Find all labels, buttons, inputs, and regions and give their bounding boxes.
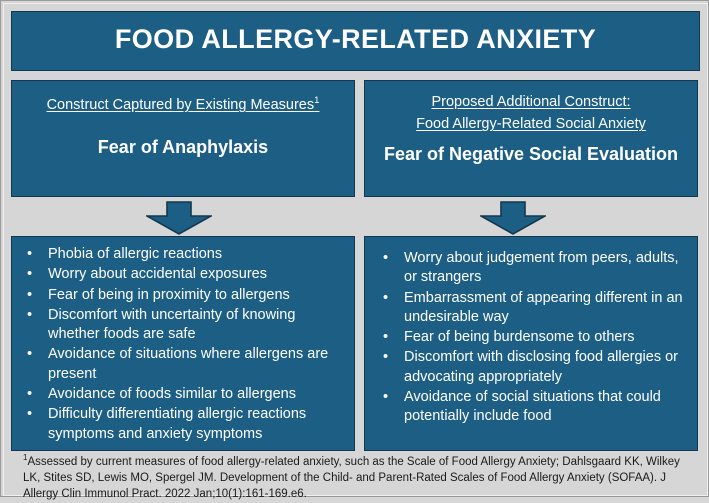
- left-bullet-list: •Phobia of allergic reactions •Worry abo…: [18, 245, 348, 444]
- bullet-icon: •: [383, 249, 388, 268]
- list-item-text: Phobia of allergic reactions: [48, 246, 222, 262]
- list-item-text: Fear of being in proximity to allergens: [48, 287, 290, 303]
- diagram-poster: FOOD ALLERGY-RELATED ANXIETY Construct C…: [0, 0, 709, 497]
- bullet-icon: •: [27, 286, 32, 305]
- list-item: •Discomfort with disclosing food allergi…: [373, 348, 689, 387]
- list-item: •Discomfort with uncertainty of knowing …: [18, 306, 348, 345]
- list-item: •Embarrassment of appearing different in…: [373, 289, 689, 328]
- bullet-icon: •: [383, 348, 388, 367]
- list-item: •Worry about judgement from peers, adult…: [373, 249, 689, 288]
- bullet-icon: •: [27, 265, 32, 284]
- right-construct-heading-line2: Food Allergy-Related Social Anxiety: [375, 113, 687, 135]
- bullet-icon: •: [383, 328, 388, 347]
- footnote-text: Assessed by current measures of food all…: [23, 456, 680, 500]
- list-item: •Avoidance of social situations that cou…: [373, 388, 689, 427]
- bullet-icon: •: [27, 245, 32, 264]
- bullet-icon: •: [383, 289, 388, 308]
- list-item: •Avoidance of foods similar to allergens: [18, 385, 348, 404]
- right-bullet-list: •Worry about judgement from peers, adult…: [373, 249, 689, 427]
- footnote: 1Assessed by current measures of food al…: [23, 455, 693, 503]
- right-construct-label: Fear of Negative Social Evaluation: [375, 144, 687, 166]
- list-item: •Fear of being burdensome to others: [373, 328, 689, 347]
- list-item: •Fear of being in proximity to allergens: [18, 286, 348, 305]
- down-arrow-icon: [480, 201, 546, 235]
- list-item-text: Worry about judgement from peers, adults…: [404, 250, 679, 285]
- list-item-text: Discomfort with uncertainty of knowing w…: [48, 307, 295, 342]
- right-construct-heading-line1: Proposed Additional Construct:: [375, 91, 687, 113]
- left-construct-label: Fear of Anaphylaxis: [22, 137, 344, 159]
- down-arrow-icon: [146, 201, 212, 235]
- list-item-text: Discomfort with disclosing food allergie…: [404, 349, 678, 384]
- bullet-icon: •: [27, 385, 32, 404]
- list-item-text: Avoidance of social situations that coul…: [404, 389, 661, 424]
- list-item-text: Fear of being burdensome to others: [404, 329, 635, 345]
- left-construct-footnote-marker: 1: [314, 95, 319, 106]
- page-title: FOOD ALLERGY-RELATED ANXIETY: [115, 25, 596, 57]
- bullet-icon: •: [27, 405, 32, 424]
- list-item-text: Avoidance of foods similar to allergens: [48, 386, 296, 402]
- list-item: •Difficulty differentiating allergic rea…: [18, 405, 348, 444]
- list-item: •Phobia of allergic reactions: [18, 245, 348, 264]
- right-construct-box: Proposed Additional Construct: Food Alle…: [364, 80, 698, 197]
- bullet-icon: •: [27, 345, 32, 364]
- bullet-icon: •: [27, 306, 32, 325]
- left-construct-box: Construct Captured by Existing Measures1…: [11, 80, 355, 197]
- list-item-text: Worry about accidental exposures: [48, 266, 267, 282]
- list-item: •Avoidance of situations where allergens…: [18, 345, 348, 384]
- left-construct-heading: Construct Captured by Existing Measures1: [22, 94, 344, 116]
- list-item: •Worry about accidental exposures: [18, 265, 348, 284]
- title-banner: FOOD ALLERGY-RELATED ANXIETY: [11, 11, 700, 71]
- list-item-text: Avoidance of situations where allergens …: [48, 346, 328, 381]
- list-item-text: Embarrassment of appearing different in …: [404, 290, 683, 325]
- right-bullet-box: •Worry about judgement from peers, adult…: [364, 236, 698, 451]
- left-bullet-box: •Phobia of allergic reactions •Worry abo…: [11, 236, 355, 451]
- list-item-text: Difficulty differentiating allergic reac…: [48, 406, 306, 441]
- left-construct-heading-text: Construct Captured by Existing Measures: [47, 97, 315, 113]
- bullet-icon: •: [383, 388, 388, 407]
